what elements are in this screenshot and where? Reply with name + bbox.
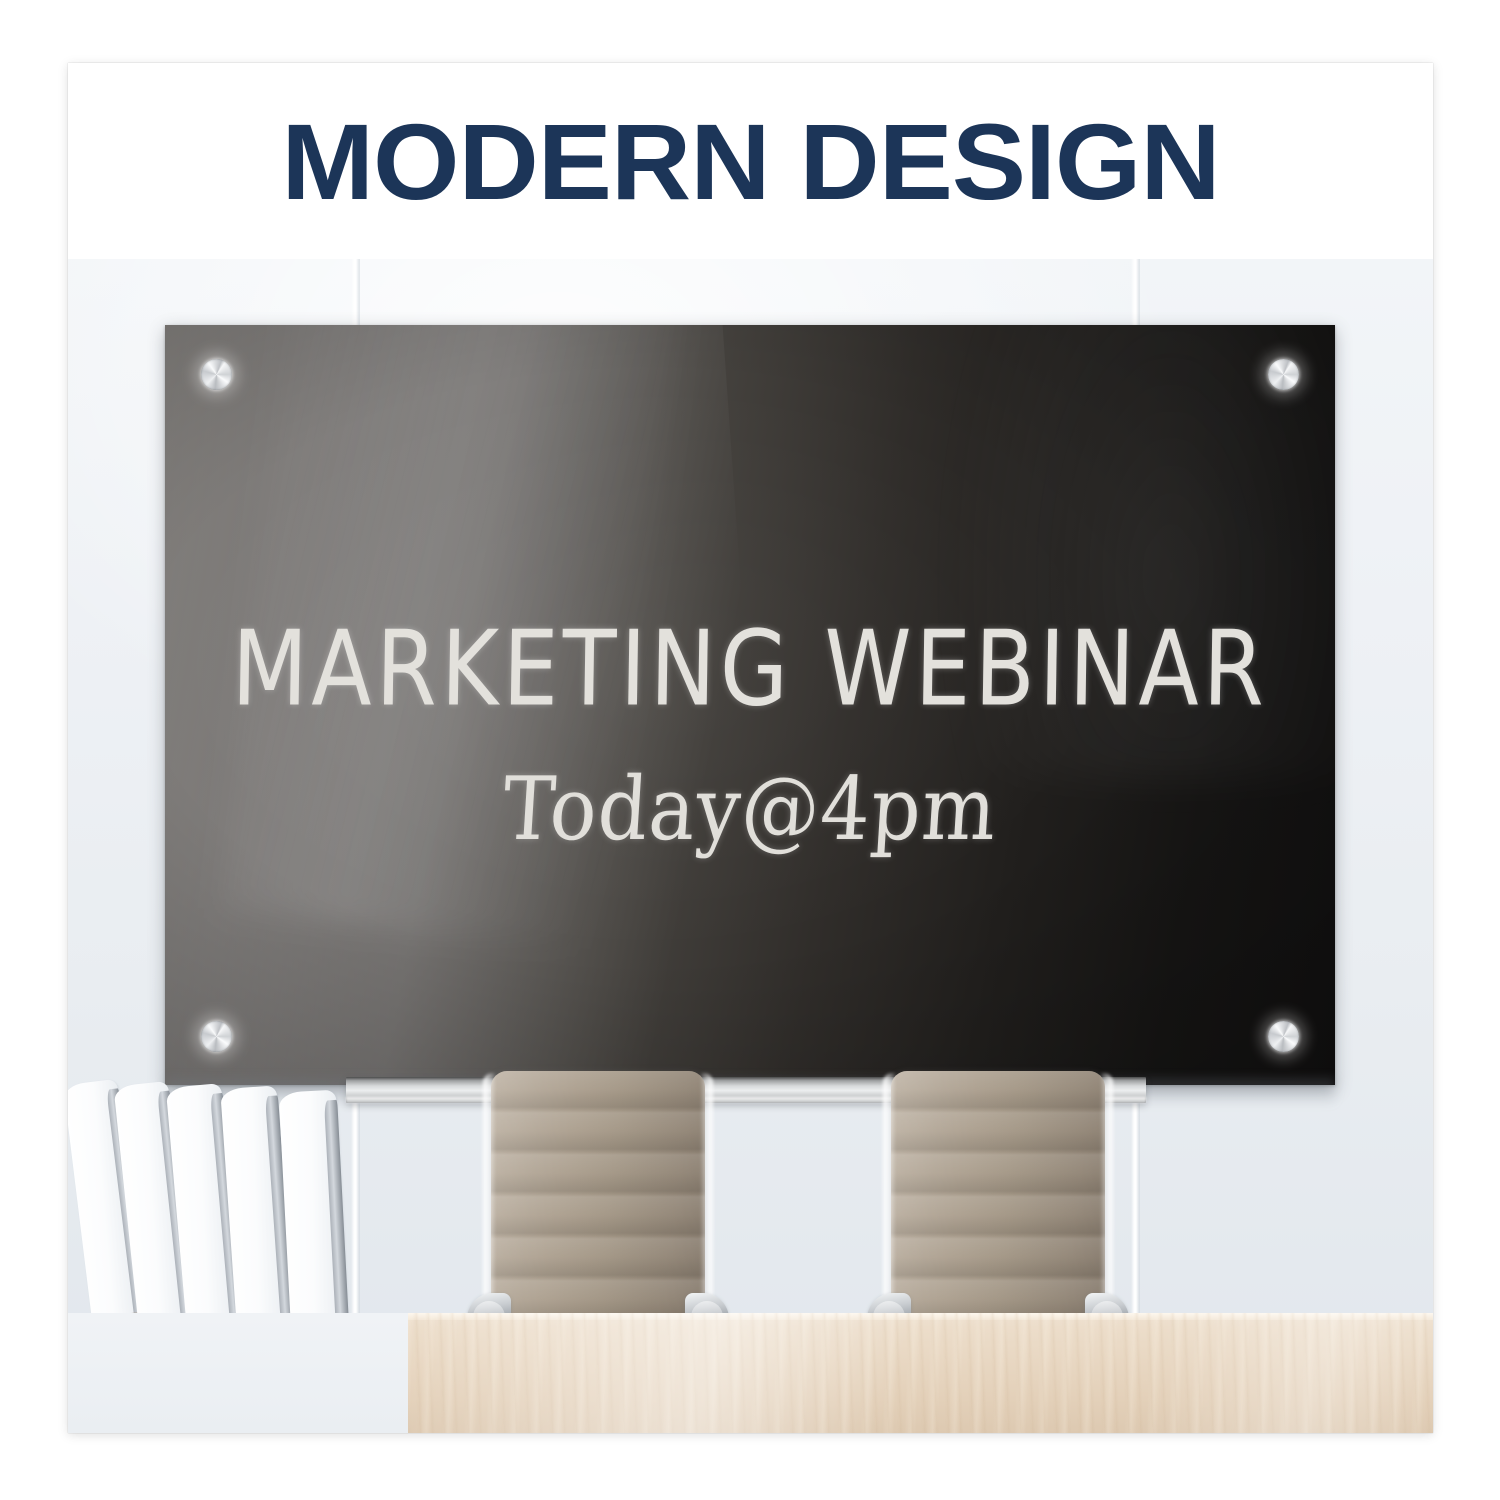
board-gloss-highlight-right <box>937 325 1335 781</box>
floor-area-left <box>68 1313 408 1433</box>
executive-chair-left[interactable] <box>483 1071 713 1341</box>
chair-edge-right <box>1101 1073 1113 1323</box>
handwriting-line-2: Today@4pm <box>165 766 1335 853</box>
mount-cap-top-left-icon <box>201 359 232 390</box>
chair-edge-right <box>701 1073 713 1323</box>
stacking-chair-row <box>68 1047 448 1337</box>
board-vignette-overlay <box>165 325 1335 1085</box>
mount-cap-bottom-right-icon <box>1268 1021 1299 1052</box>
board-gloss-highlight-primary <box>165 325 784 1085</box>
chair-backrest <box>891 1071 1105 1329</box>
chair-sheen <box>891 1071 1105 1329</box>
header-banner: MODERN DESIGN <box>68 63 1433 259</box>
chair-edge-left <box>883 1073 895 1323</box>
conference-room-photo: MARKETING WEBINAR Today@4pm <box>68 259 1433 1433</box>
chair-edge-left <box>483 1073 495 1323</box>
page-title: MODERN DESIGN <box>281 108 1219 216</box>
chair-backrest <box>491 1071 705 1329</box>
board-gloss-highlight-secondary <box>220 325 695 952</box>
board-handwriting: MARKETING WEBINAR Today@4pm <box>165 625 1335 849</box>
conference-table <box>68 1313 1433 1433</box>
framed-photo-panel: MODERN DESIGN MARKETING WEBINAR <box>68 63 1433 1433</box>
mount-cap-top-right-icon <box>1268 359 1299 390</box>
table-sheen <box>408 1313 1433 1433</box>
handwriting-line-1: MARKETING WEBINAR <box>165 617 1335 721</box>
product-image-card: MODERN DESIGN MARKETING WEBINAR <box>0 0 1500 1500</box>
chair-sheen <box>491 1071 705 1329</box>
list-item[interactable] <box>279 1089 370 1348</box>
executive-chair-right[interactable] <box>883 1071 1113 1341</box>
glass-dry-erase-board[interactable]: MARKETING WEBINAR Today@4pm <box>165 325 1335 1085</box>
